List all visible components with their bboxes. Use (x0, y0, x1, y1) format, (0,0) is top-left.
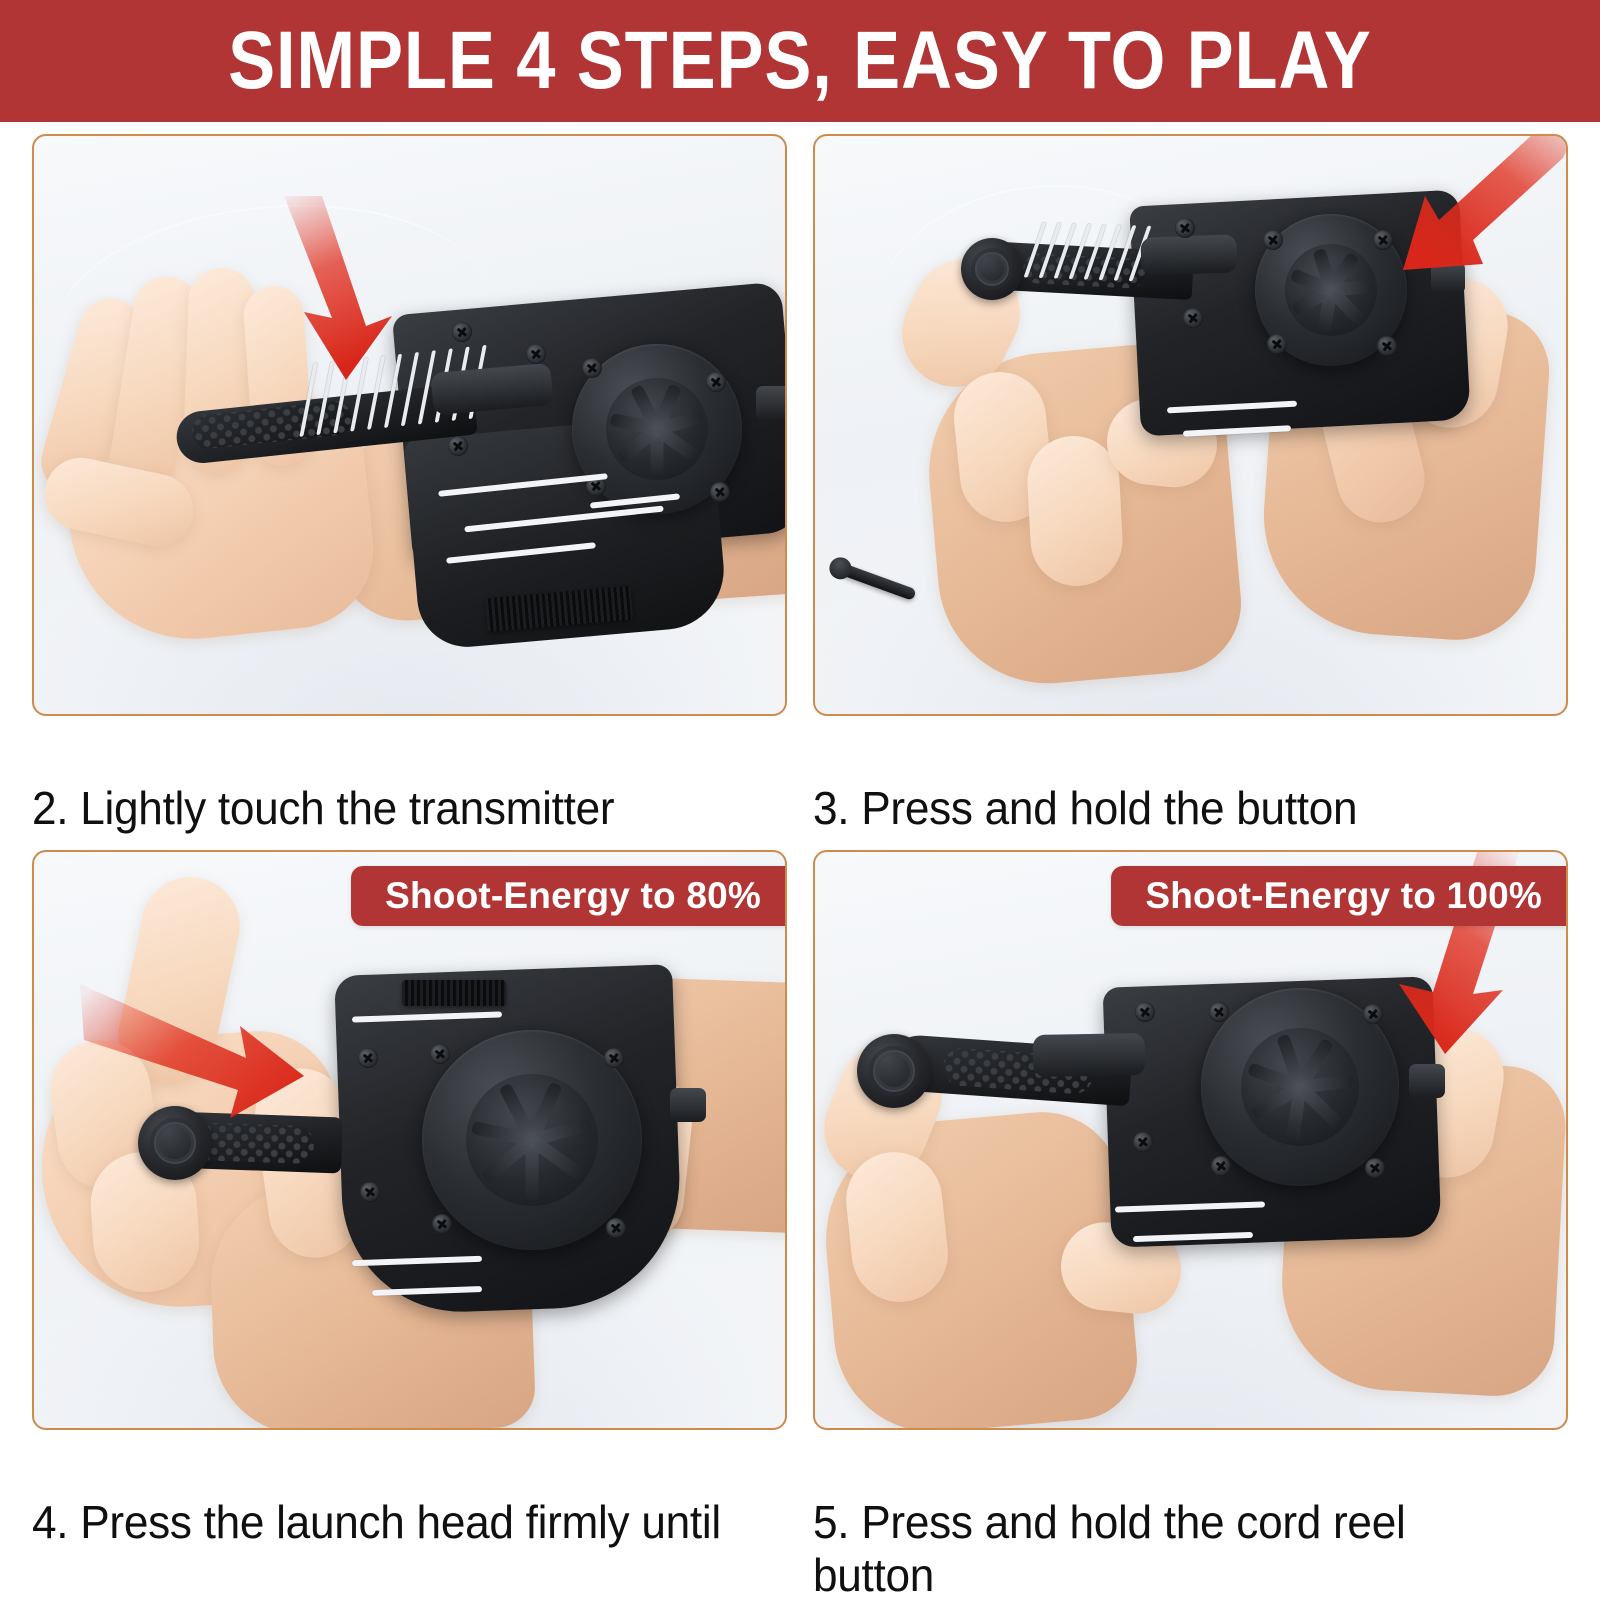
step-5-scene (815, 852, 1566, 1428)
side-button-nub[interactable] (670, 1088, 706, 1122)
shoot-energy-badge-100: Shoot-Energy to 100% (1111, 866, 1568, 926)
step-4-photo: Shoot-Energy to 80% (32, 850, 787, 1430)
step-card-5: Shoot-Energy to 100% 5. Press and hold t… (813, 850, 1568, 1600)
screw-reel-br (606, 1218, 626, 1238)
screw-reel-br (710, 482, 730, 502)
step-4-scene (34, 852, 785, 1428)
launch-head-cap[interactable] (857, 1034, 931, 1108)
screw-reel-tr (706, 372, 726, 392)
cord-reel-hub (1285, 244, 1377, 336)
caption-line: 5. Press and hold the cord reel button (813, 1496, 1538, 1600)
caption-line: 2. Lightly touch the transmitter (32, 782, 757, 834)
step-card-4: Shoot-Energy to 80% 4. Press the launch … (32, 850, 787, 1600)
screw-body-b (448, 436, 468, 456)
screw-reel-br (1365, 1158, 1385, 1178)
side-button-nub[interactable] (756, 386, 787, 420)
step-3-photo (813, 134, 1568, 716)
launch-head-cap[interactable] (961, 238, 1023, 300)
screw-reel-tl (582, 358, 602, 378)
press-arrow-downleft-icon (1397, 134, 1568, 302)
screw-reel-br (1377, 336, 1397, 356)
cord-reel-hub (1241, 1028, 1359, 1146)
screw-body-a (358, 1048, 378, 1068)
screw-body-b (1133, 1132, 1153, 1152)
device-barrel (1033, 1033, 1146, 1077)
screw-body-b (1183, 308, 1203, 328)
screw-body-a (1175, 218, 1195, 238)
screw-reel-bl (1211, 1156, 1231, 1176)
top-rail-grip (402, 980, 506, 1006)
press-arrow-right-icon (78, 980, 308, 1130)
device-barrel (1140, 234, 1237, 275)
cord-reel-hub (466, 1074, 598, 1206)
step-5-photo: Shoot-Energy to 100% (813, 850, 1568, 1430)
caption-line: 4. Press the launch head firmly until (32, 1496, 757, 1548)
caption-line: 3. Press and hold the button (813, 782, 1538, 834)
cord-reel-hub (606, 378, 708, 480)
step-3-scene (815, 136, 1566, 714)
step-2-photo (32, 134, 787, 716)
screw-reel-bl (1267, 334, 1287, 354)
screw-body-a (452, 322, 472, 342)
step-4-caption: 4. Press the launch head firmly until th… (32, 1444, 757, 1600)
screw-reel-tl (430, 1044, 450, 1064)
screw-reel-bl (432, 1214, 452, 1234)
step-5-caption: 5. Press and hold the cord reel button f… (813, 1444, 1538, 1600)
header-banner: SIMPLE 4 STEPS, EASY TO PLAY (0, 0, 1600, 122)
screw-reel-tr (1373, 230, 1393, 250)
press-arrow-down-icon (270, 194, 400, 384)
screw-body-b (360, 1182, 380, 1202)
side-button-nub[interactable] (1409, 1064, 1445, 1098)
step-2-scene (34, 136, 785, 714)
steps-grid: 2. Lightly touch the transmitter to trig… (0, 122, 1600, 1600)
screw-body-a (1135, 1002, 1155, 1022)
shoot-energy-badge-80: Shoot-Energy to 80% (351, 866, 787, 926)
screw-reel-tr (604, 1048, 624, 1068)
instruction-infographic: SIMPLE 4 STEPS, EASY TO PLAY (0, 0, 1600, 1600)
screw-reel-tl (1263, 230, 1283, 250)
screw-body-c (526, 344, 546, 364)
page-title: SIMPLE 4 STEPS, EASY TO PLAY (228, 20, 1372, 102)
screw-reel-tl (1209, 1002, 1229, 1022)
